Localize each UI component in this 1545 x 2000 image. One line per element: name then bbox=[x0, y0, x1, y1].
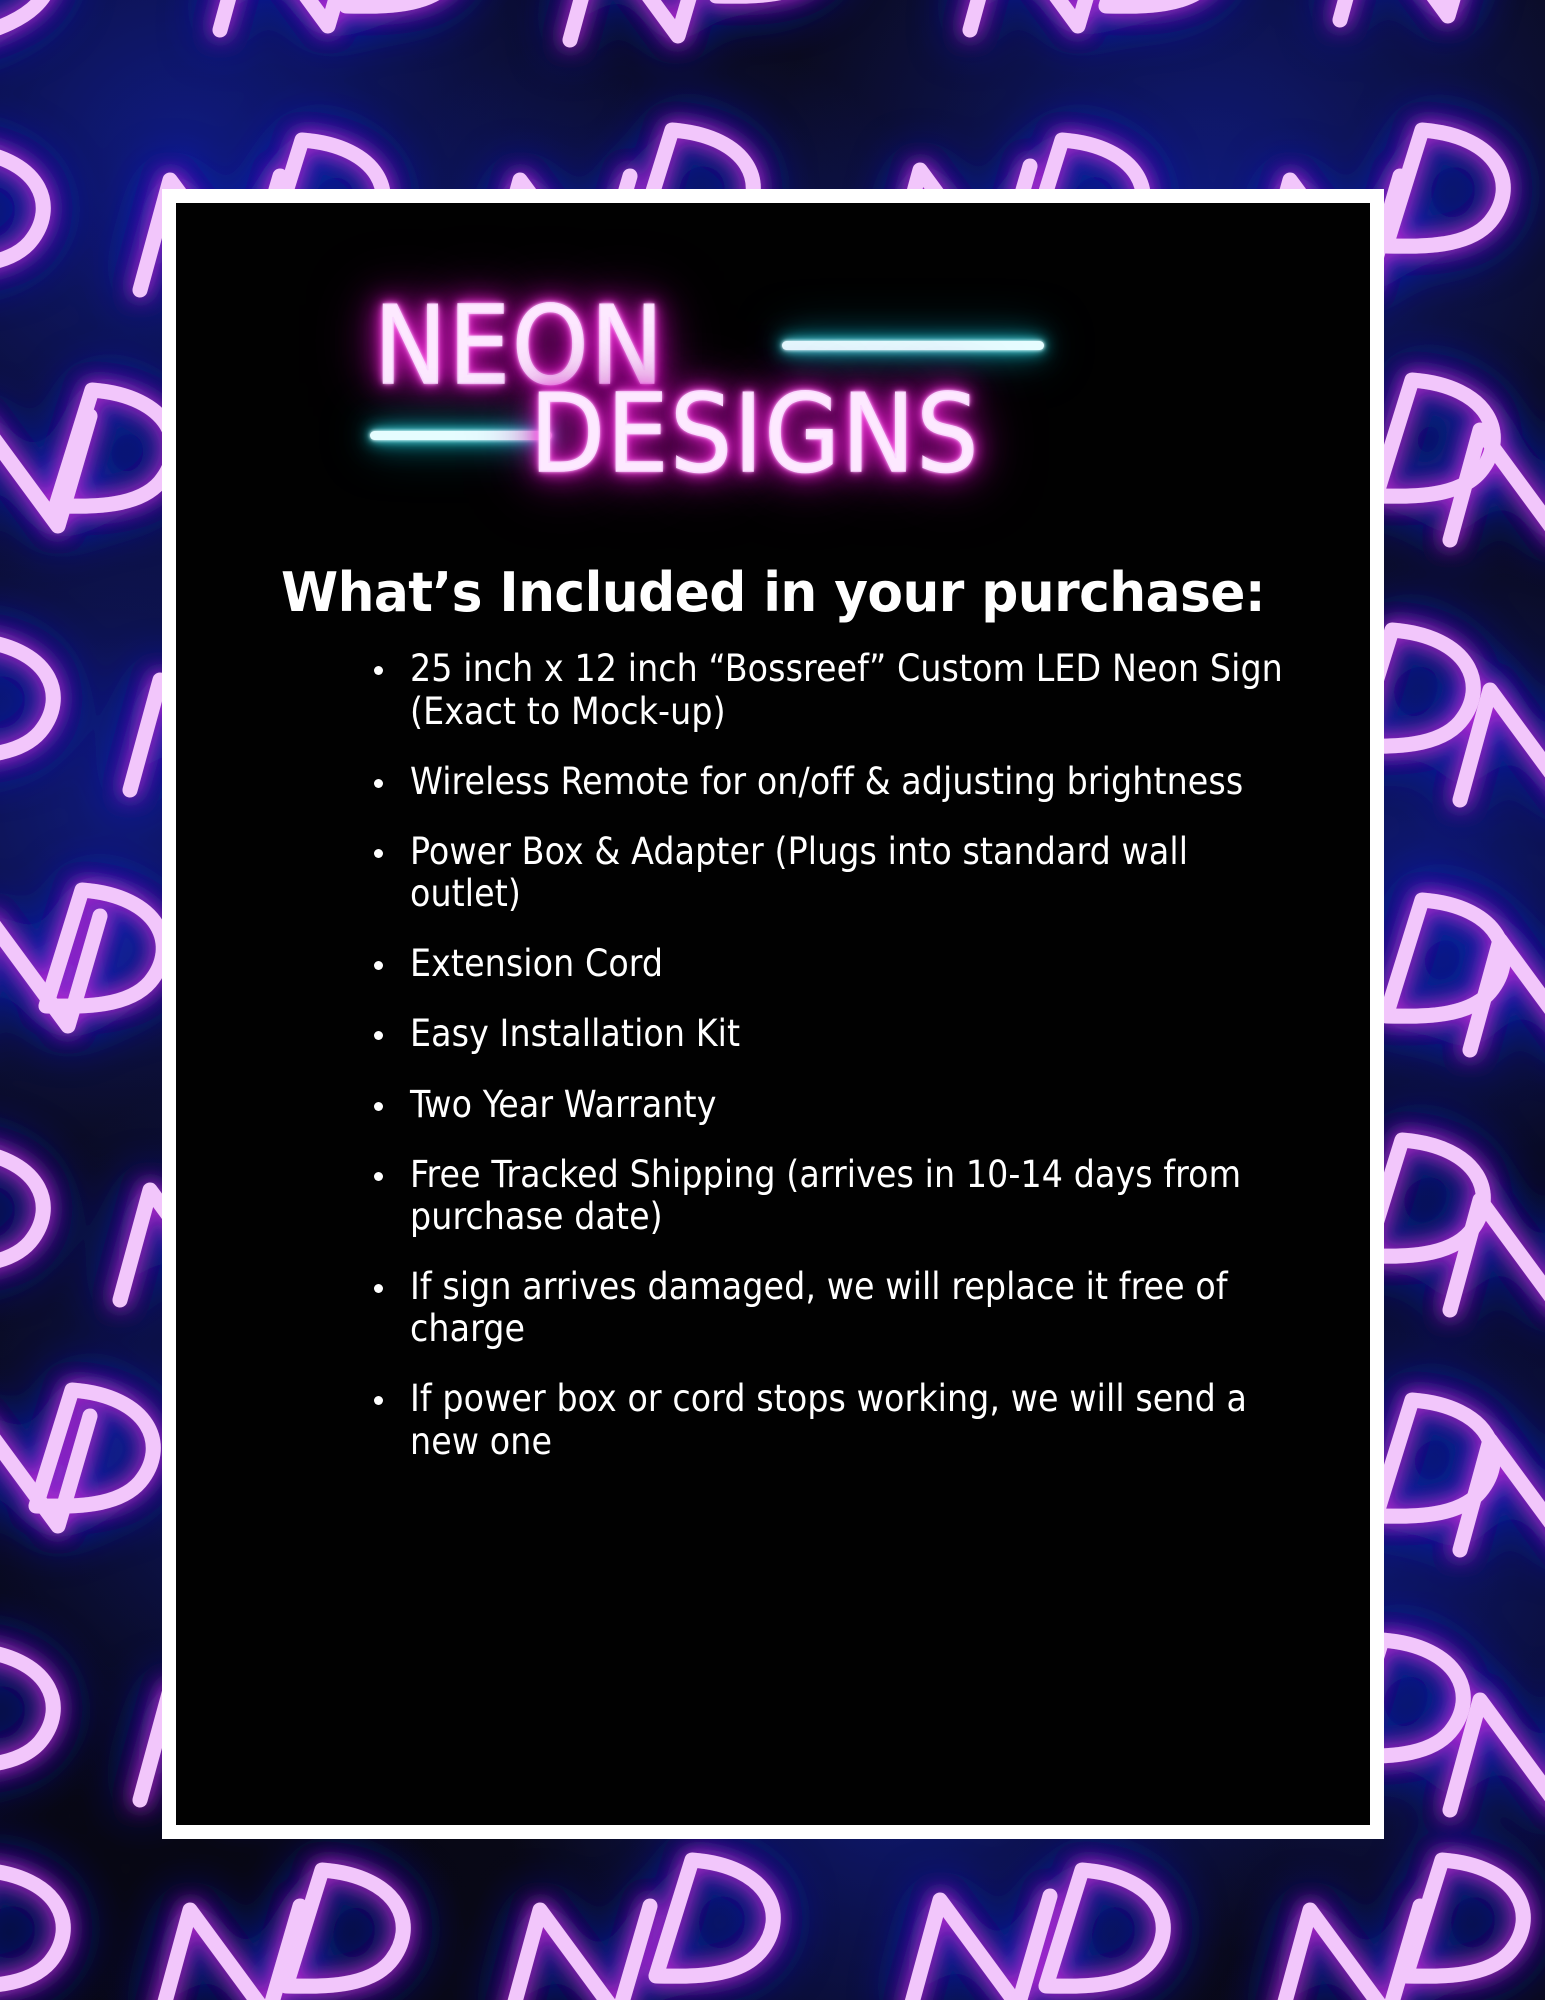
list-item: Wireless Remote for on/off & adjusting b… bbox=[372, 761, 1292, 803]
included-items-list: 25 inch x 12 inch “Bossreef” Custom LED … bbox=[176, 648, 1370, 1462]
list-item-label: Power Box & Adapter (Plugs into standard… bbox=[410, 830, 1188, 915]
list-item: 25 inch x 12 inch “Bossreef” Custom LED … bbox=[372, 648, 1292, 732]
page-title: What’s Included in your purchase: bbox=[200, 563, 1346, 622]
poster-card: NEON DESIGNS What’s Included in your pur… bbox=[176, 203, 1370, 1825]
bullet-dot-icon bbox=[374, 1172, 383, 1181]
poster-root: NEON DESIGNS What’s Included in your pur… bbox=[0, 0, 1545, 2000]
poster-white-frame: NEON DESIGNS What’s Included in your pur… bbox=[162, 189, 1384, 1839]
bullet-dot-icon bbox=[374, 1102, 383, 1111]
bullet-dot-icon bbox=[374, 779, 383, 788]
bullet-dot-icon bbox=[374, 1396, 383, 1405]
bullet-dot-icon bbox=[374, 849, 383, 858]
list-item: Power Box & Adapter (Plugs into standard… bbox=[372, 831, 1292, 915]
list-item-label: 25 inch x 12 inch “Bossreef” Custom LED … bbox=[410, 647, 1283, 732]
bullet-dot-icon bbox=[374, 666, 383, 675]
logo-word-designs: DESIGNS bbox=[530, 381, 980, 489]
neon-designs-logo: NEON DESIGNS bbox=[176, 241, 1370, 541]
list-item: If sign arrives damaged, we will replace… bbox=[372, 1266, 1292, 1350]
list-item: Extension Cord bbox=[372, 943, 1292, 985]
list-item: Free Tracked Shipping (arrives in 10-14 … bbox=[372, 1154, 1292, 1238]
bullet-dot-icon bbox=[374, 961, 383, 970]
list-item: Two Year Warranty bbox=[372, 1084, 1292, 1126]
list-item-label: Wireless Remote for on/off & adjusting b… bbox=[410, 760, 1243, 803]
bullet-dot-icon bbox=[374, 1031, 383, 1040]
list-item-label: Free Tracked Shipping (arrives in 10-14 … bbox=[410, 1153, 1241, 1238]
bullet-dot-icon bbox=[374, 1284, 383, 1293]
list-item-label: If sign arrives damaged, we will replace… bbox=[410, 1265, 1228, 1350]
list-item: Easy Installation Kit bbox=[372, 1013, 1292, 1055]
list-item-label: Extension Cord bbox=[410, 942, 663, 985]
list-item-label: Two Year Warranty bbox=[410, 1083, 716, 1126]
list-item: If power box or cord stops working, we w… bbox=[372, 1378, 1292, 1462]
cyan-neon-bar-bottom-icon bbox=[370, 431, 552, 440]
cyan-neon-bar-top-icon bbox=[782, 341, 1044, 350]
list-item-label: Easy Installation Kit bbox=[410, 1012, 740, 1055]
list-item-label: If power box or cord stops working, we w… bbox=[410, 1377, 1247, 1462]
